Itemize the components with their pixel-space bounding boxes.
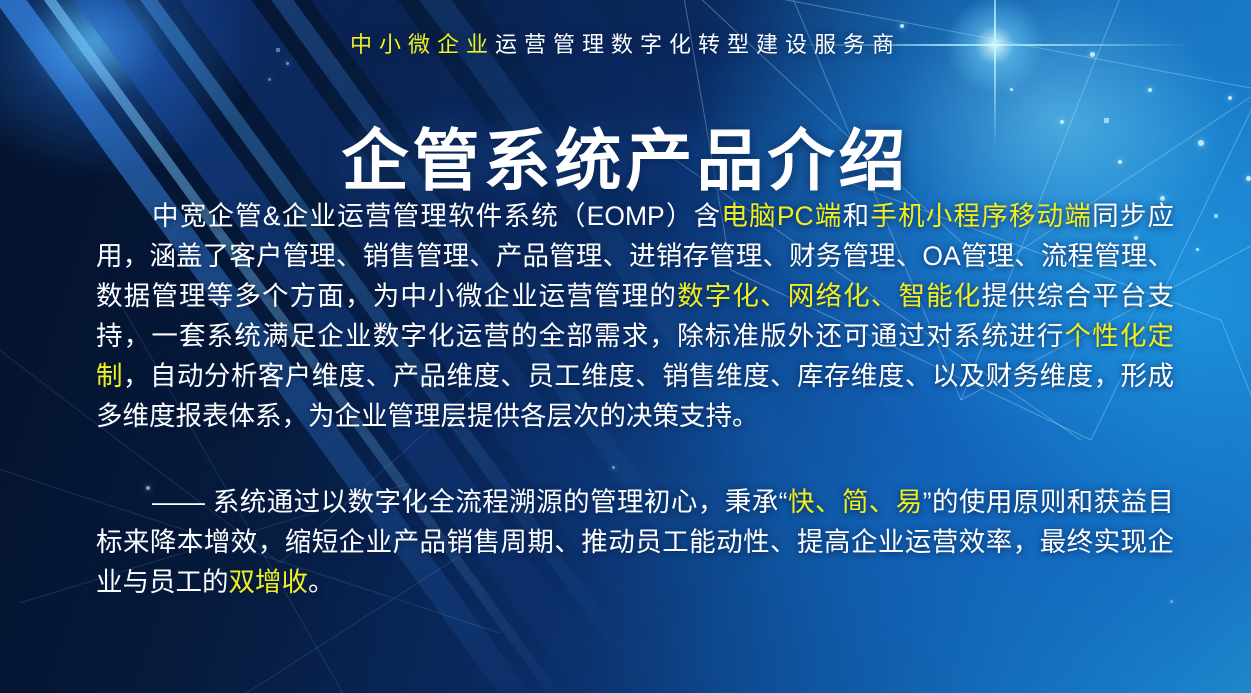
tagline-rest: 运营管理数字化转型建设服务商 [495, 32, 901, 57]
paragraph-2: —— 系统通过以数字化全流程溯源的管理初心，秉承“快、简、易”的使用原则和获益目… [96, 482, 1174, 602]
page-title: 企管系统产品介绍 [0, 124, 1251, 200]
text-plain: —— 系统通过以数字化全流程溯源的管理初心，秉承“ [152, 487, 788, 517]
text-highlight: 快、简、易 [788, 487, 923, 517]
paragraph-1: 中宽企管&企业运营管理软件系统（EOMP）含电脑PC端和手机小程序移动端同步应用… [96, 196, 1174, 436]
text-plain: 和 [843, 201, 871, 231]
tagline-highlight: 中小微企业 [350, 32, 495, 57]
slide-tagline: 中小微企业运营管理数字化转型建设服务商 [0, 27, 1251, 59]
text-highlight: 数字化、网络化、智能化 [677, 281, 981, 311]
text-plain: ，自动分析客户维度、产品维度、员工维度、销售维度、库存维度、以及财务维度，形成多… [96, 361, 1174, 431]
text-plain: 中宽企管&企业运营管理软件系统（EOMP）含 [152, 201, 721, 231]
text-highlight: 手机小程序移动端 [870, 201, 1092, 231]
presentation-slide: 中小微企业运营管理数字化转型建设服务商 企管系统产品介绍 中宽企管&企业运营管理… [0, 0, 1251, 693]
text-highlight: 双增收 [229, 567, 309, 597]
text-plain: 。 [308, 567, 335, 597]
text-highlight: 电脑PC端 [721, 201, 842, 231]
slide-content: 中小微企业运营管理数字化转型建设服务商 企管系统产品介绍 中宽企管&企业运营管理… [0, 0, 1251, 693]
body-copy: 中宽企管&企业运营管理软件系统（EOMP）含电脑PC端和手机小程序移动端同步应用… [96, 196, 1174, 602]
